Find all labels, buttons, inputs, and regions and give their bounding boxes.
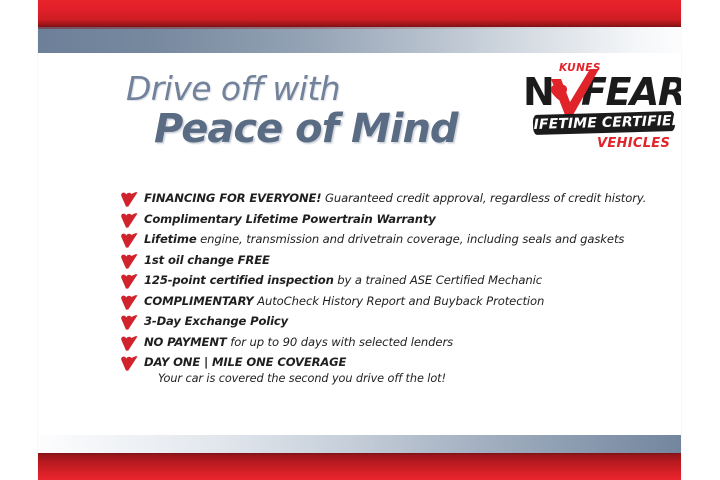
advertisement-canvas: Drive off with Peace of Mind KUNES N FEA… [0,0,720,480]
headline-line-2: Peace of Mind [154,108,526,150]
list-item: NO PAYMENT for up to 90 days with select… [120,334,650,351]
list-item-text: 3-Day Exchange Policy [144,313,650,330]
list-item: Complimentary Lifetime Powertrain Warran… [120,211,650,228]
list-item-bold: COMPLIMENTARY [144,294,254,308]
red-checkmark-icon [120,213,138,228]
list-item-bold: FINANCING FOR EVERYONE! [144,191,321,205]
list-item-text: 125-point certified inspection by a trai… [144,272,650,289]
red-checkmark-icon [120,274,138,289]
list-item-regular: for up to 90 days with selected lenders [227,335,453,349]
list-item: FINANCING FOR EVERYONE! Guaranteed credi… [120,190,650,207]
advertisement-panel: Drive off with Peace of Mind KUNES N FEA… [38,0,681,480]
list-item-regular: Guaranteed credit approval, regardless o… [321,191,646,205]
red-checkmark-icon [120,295,138,310]
headline-line-1: Drive off with [126,72,526,106]
list-item-text: Complimentary Lifetime Powertrain Warran… [144,211,650,228]
logo-tagline-pill: LIFETIME CERTIFIED [533,111,676,135]
list-item-text: DAY ONE | MILE ONE COVERAGE [144,354,650,371]
heart-icon [550,84,568,101]
list-item: 1st oil change FREE [120,252,650,269]
red-checkmark-icon [120,233,138,248]
red-checkmark-icon [120,356,138,371]
list-item-regular: AutoCheck History Report and Buyback Pro… [254,294,545,308]
list-item-text: 1st oil change FREE [144,252,650,269]
red-checkmark-icon [120,254,138,269]
list-item: Lifetime engine, transmission and drivet… [120,231,650,248]
list-item-text: NO PAYMENT for up to 90 days with select… [144,334,650,351]
logo-letter-n: N [523,73,553,111]
list-item-bold: Complimentary Lifetime Powertrain Warran… [144,212,436,226]
logo-wordmark: N FEAR [523,73,675,111]
kunes-no-fear-logo: KUNES N FEAR LIFETIME CERTIFIED VEHICLES [523,62,675,158]
red-checkmark-icon [120,336,138,351]
red-checkmark-icon [120,192,138,207]
list-item-bold: NO PAYMENT [144,335,227,349]
list-item: COMPLIMENTARY AutoCheck History Report a… [120,293,650,310]
list-item-subtext: Your car is covered the second you drive… [144,371,650,387]
list-item-bold: 125-point certified inspection [144,273,334,287]
list-item: 125-point certified inspection by a trai… [120,272,650,289]
list-item-text: COMPLIMENTARY AutoCheck History Report a… [144,293,650,310]
list-item: 3-Day Exchange Policy [120,313,650,330]
list-item: DAY ONE | MILE ONE COVERAGE Your car is … [120,354,650,387]
logo-subline-text: VEHICLES [597,136,670,151]
red-checkmark-icon [120,315,138,330]
bottom-red-accent-bar [38,453,681,480]
top-red-accent-bar [38,0,681,27]
list-item-bold: 3-Day Exchange Policy [144,314,288,328]
headline-block: Drive off with Peace of Mind [126,72,526,150]
list-item-regular: engine, transmission and drivetrain cove… [197,232,625,246]
list-item-bold: Lifetime [144,232,197,246]
list-item-text: Lifetime engine, transmission and drivet… [144,231,650,248]
list-item-regular: by a trained ASE Certified Mechanic [334,273,542,287]
list-item-bold: DAY ONE | MILE ONE COVERAGE [144,355,346,369]
list-item-bold: 1st oil change FREE [144,253,270,267]
list-item-text: FINANCING FOR EVERYONE! Guaranteed credi… [144,190,650,207]
logo-word-fear: FEAR [581,73,681,111]
benefits-list: FINANCING FOR EVERYONE! Guaranteed credi… [120,190,650,391]
bottom-gray-gradient-bar [38,435,681,453]
logo-tagline-text: LIFETIME CERTIFIED [524,113,681,133]
top-gray-gradient-bar [38,27,681,53]
